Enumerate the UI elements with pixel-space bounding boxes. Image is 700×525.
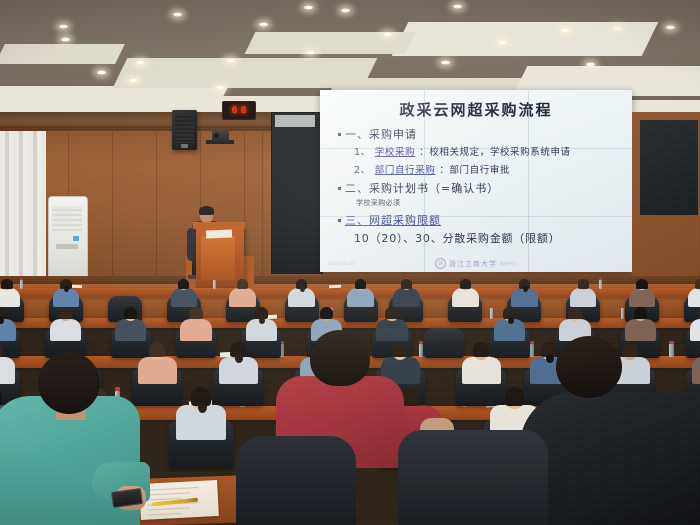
screen-seam-vertical [424, 90, 425, 272]
ceiling-downlight [172, 12, 183, 17]
attendee-torso [0, 357, 15, 384]
attendee-hair [320, 307, 334, 319]
slide-title: 政采云网超采购流程 [320, 99, 632, 120]
ceiling-downlight [135, 60, 146, 65]
slide-line-5: 学校采购必须 [356, 198, 400, 208]
window-curtain [0, 131, 46, 281]
presenter-hair [199, 206, 214, 215]
attendee-torso [690, 319, 700, 341]
screen-seam-horizontal [320, 216, 632, 217]
attendee-hair [178, 279, 189, 289]
attendee-red-head [310, 330, 370, 386]
slide-line-5-text: 学校采购必须 [356, 198, 400, 208]
attendee-ponytail [546, 354, 554, 363]
attendee-hair [634, 307, 648, 319]
bullet-icon [338, 219, 341, 222]
blackboard-text: …… [275, 121, 315, 124]
attendee-hair [237, 279, 248, 289]
attendee-hair [59, 307, 73, 319]
foreground-seat-right [398, 430, 548, 525]
ceiling-downlight [303, 5, 314, 10]
bullet-icon [338, 187, 341, 190]
water-bottle [599, 280, 602, 288]
projector-lens-icon [214, 133, 219, 138]
attendee-torso [229, 288, 256, 307]
attendee-torso [452, 288, 479, 307]
attendee-hair [505, 387, 525, 406]
wall-seam [262, 126, 263, 286]
foreground-seat-middle [236, 436, 356, 525]
attendee-torso [688, 288, 700, 307]
attendee-torso [692, 357, 700, 384]
led-digit-left: 6 [231, 106, 237, 116]
attendee-torso [50, 319, 81, 341]
ceiling-downlight [497, 40, 508, 45]
attendee-hair [189, 307, 203, 319]
attendee-teal-head [38, 352, 100, 414]
attendee-hair [149, 342, 165, 357]
ceiling-downlight [215, 85, 226, 90]
attendee-hair [392, 342, 408, 357]
water-bottle [530, 344, 534, 357]
slide-line-2-prefix: 1、 [354, 144, 371, 158]
projection-screen: 政采云网超采购流程 一、采购申请 1、 学校采购 ：校相关规定，学校采购系统申请… [320, 90, 632, 272]
attendee-hair [355, 279, 366, 289]
speaker-logo [181, 144, 188, 148]
ceiling-downlight [96, 70, 107, 75]
slide-line-3-link: 部门自行采购 [375, 162, 436, 176]
attendee-torso [171, 288, 198, 307]
attendee-torso [462, 357, 501, 384]
slide-line-7-text: 10（20）、30、分散采购金额（限额） [354, 230, 561, 246]
side-blackboard [271, 112, 323, 274]
ceiling-downlight [128, 78, 139, 83]
attendee-hair [1, 279, 12, 289]
attendee-hair [124, 307, 138, 319]
lecture-hall-photo: 6 8 ……………… 政采云网超采购流程 一、采购申请 1、 学校采购 ：校相关… [0, 0, 700, 525]
attendee-torso [376, 319, 407, 341]
ceiling-downlight [452, 4, 463, 9]
attendee-hair [473, 342, 489, 357]
presentation-slide: 政采云网超采购流程 一、采购申请 1、 学校采购 ：校相关规定，学校采购系统申请… [320, 90, 632, 272]
attendee-hair [460, 279, 471, 289]
attendee-hair [695, 279, 700, 289]
slide-line-3: 2、 部门自行采购 ：部门自行审批 [354, 162, 510, 176]
screen-seam-horizontal [320, 148, 632, 149]
wall-seam [156, 126, 157, 286]
notebook-line [147, 507, 190, 510]
slide-line-1-text: 一、采购申请 [345, 126, 417, 142]
attendee-torso [629, 288, 656, 307]
ac-vent [52, 206, 82, 232]
water-bottle [490, 308, 493, 318]
slide-line-7: 10（20）、30、分散采购金额（限额） [354, 230, 561, 246]
attendee-torso [180, 319, 211, 341]
notebook-line [147, 492, 190, 495]
bottle-cap [419, 341, 423, 344]
screen-seam-vertical [528, 90, 529, 272]
ceiling-downlight [60, 37, 71, 42]
slide-line-4-text: 二、采购计划书（=确认书） [345, 180, 499, 196]
ceiling-downlight [340, 8, 351, 13]
ceiling-downlight [665, 25, 676, 30]
slide-line-2: 1、 学校采购 ：校相关规定，学校采购系统申请 [354, 144, 571, 158]
attendee-torso [0, 288, 20, 307]
speaker-grill [175, 114, 194, 143]
led-digit-right: 8 [241, 106, 247, 116]
ceiling-downlight [440, 60, 451, 65]
attendee-ponytail [508, 317, 514, 324]
blackboard-note: ……………… [275, 115, 315, 127]
ceiling-downlight [225, 58, 236, 63]
attendee-ponytail [523, 286, 528, 292]
water-bottle [213, 280, 216, 288]
ceiling-downlight [58, 24, 69, 29]
attendee-ponytail [235, 354, 243, 363]
led-clock-display: 6 8 [222, 101, 256, 120]
right-blackboard [640, 120, 698, 215]
ac-indicator-light [73, 236, 79, 241]
water-bottle [621, 308, 624, 318]
attendee-torso [138, 357, 177, 384]
attendee-torso [625, 319, 656, 341]
slide-line-6: 三、网超采购限额 [338, 212, 441, 228]
water-bottle [419, 344, 423, 357]
attendee-dark-head [556, 336, 622, 398]
attendee-hair [401, 279, 412, 289]
attendee-hair [385, 307, 399, 319]
bottle-cap [530, 341, 534, 344]
ceiling-panel [0, 44, 125, 64]
slide-line-1: 一、采购申请 [338, 126, 417, 142]
attendee-hair [622, 342, 638, 357]
ceiling-downlight [612, 26, 623, 31]
attendee-hair [636, 279, 647, 289]
wall-seam [112, 126, 113, 286]
auditorium-seat [424, 328, 464, 358]
ceiling-downlight [305, 50, 316, 55]
water-bottle [669, 344, 673, 357]
water-bottle [20, 280, 23, 288]
slide-line-3-text: ：部门自行审批 [439, 162, 510, 176]
university-dept: 采购中心 [500, 261, 517, 267]
ceiling-downlight [382, 32, 393, 37]
attendee-hair [578, 279, 589, 289]
attendee-torso [393, 288, 420, 307]
slide-line-2-link: 学校采购 [375, 144, 415, 158]
attendee-torso [115, 319, 146, 341]
bottle-cap [669, 341, 673, 344]
bottle-cap [115, 387, 120, 391]
slide-line-3-prefix: 2、 [354, 162, 371, 176]
bullet-icon [338, 133, 341, 136]
podium-papers [206, 230, 232, 239]
attendee-hair [568, 307, 582, 319]
ac-badge [56, 244, 78, 249]
attendee-torso [570, 288, 597, 307]
notebook-line [148, 513, 182, 516]
slide-line-6-text: 三、网超采购限额 [345, 212, 441, 228]
ceiling-downlight [258, 22, 269, 27]
ceiling-downlight [560, 28, 571, 33]
university-name: 浙江工商大学 [449, 259, 497, 269]
slide-line-4: 二、采购计划书（=确认书） [338, 180, 499, 196]
notebook-line [146, 487, 198, 491]
attendee-torso [347, 288, 374, 307]
slide-line-2-text: ：校相关规定，学校采购系统申请 [419, 144, 571, 158]
ceiling-downlight [585, 62, 596, 67]
